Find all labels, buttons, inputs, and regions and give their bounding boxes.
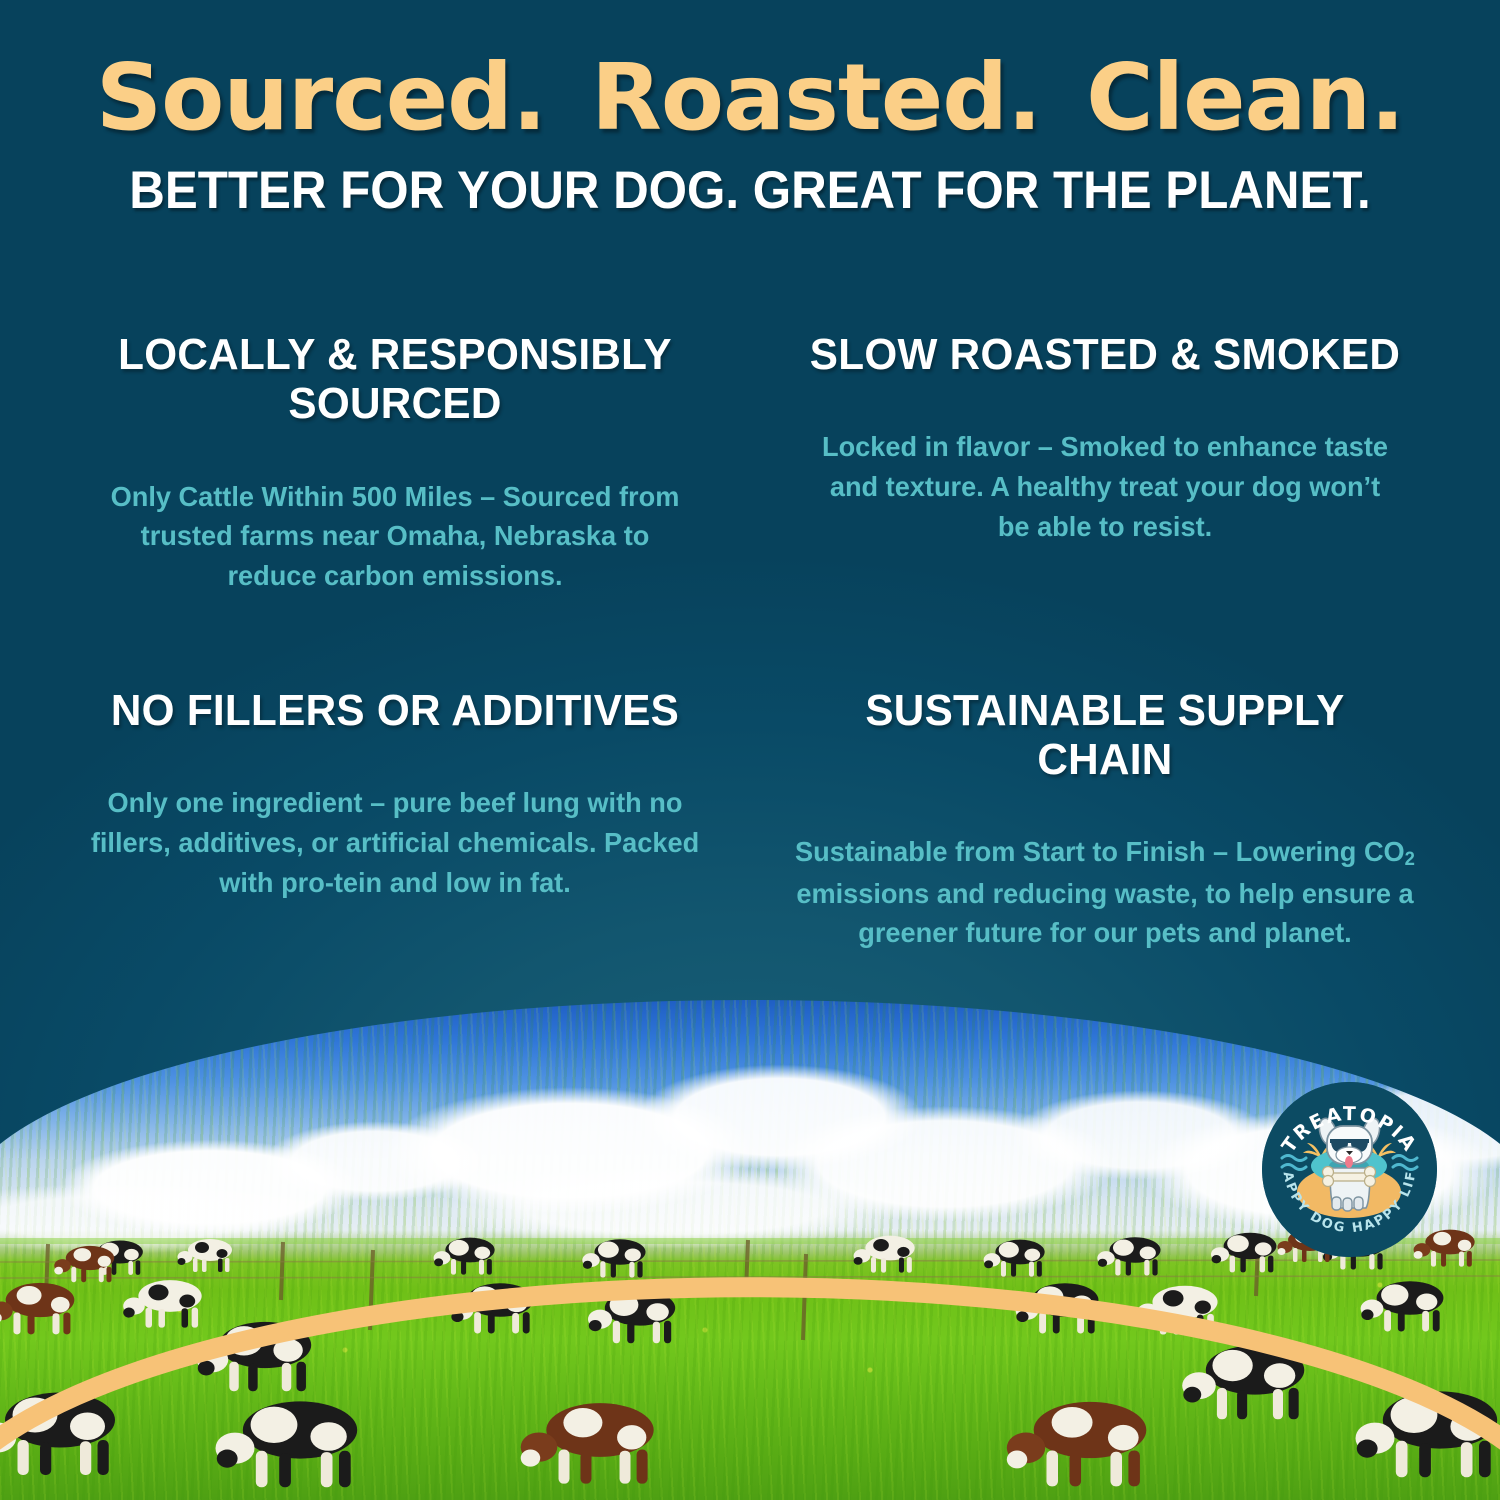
feature-body: Only Cattle Within 500 Miles – Sourced f… [80,429,711,596]
feature-body: Only one ingredient – pure beef lung wit… [80,735,711,902]
feature-card-slow-roasted: SLOW ROASTED & SMOKED Locked in flavor –… [780,330,1430,596]
feature-card-locally-sourced: LOCALLY & RESPONSIBLY SOURCED Only Cattl… [70,330,720,596]
feature-grid: LOCALLY & RESPONSIBLY SOURCED Only Cattl… [0,330,1500,953]
feature-body: Locked in flavor – Smoked to enhance tas… [790,379,1421,546]
co2-subscript: 2 [1405,850,1415,871]
feature-body-pre: Sustainable from Start to Finish – Lower… [795,836,1405,867]
brand-logo: TREATOPIA HAPPY DOG HAPPY LIFE [1262,1082,1437,1257]
feature-card-no-fillers: NO FILLERS OR ADDITIVES Only one ingredi… [70,596,720,953]
marketing-infographic: Sourced. Roasted. Clean. BETTER FOR YOUR… [0,0,1500,1500]
feature-title: SUSTAINABLE SUPPLY CHAIN [793,686,1417,785]
header: Sourced. Roasted. Clean. BETTER FOR YOUR… [0,0,1500,217]
logo-svg: TREATOPIA HAPPY DOG HAPPY LIFE [1262,1082,1437,1257]
feature-title: NO FILLERS OR ADDITIVES [83,686,707,735]
feature-body: Sustainable from Start to Finish – Lower… [790,784,1421,953]
page-title: Sourced. Roasted. Clean. [0,0,1500,144]
feature-body-post: emissions and reducing waste, to help en… [796,878,1413,949]
feature-card-sustainable-supply-chain: SUSTAINABLE SUPPLY CHAIN Sustainable fro… [780,596,1430,953]
page-subtitle: BETTER FOR YOUR DOG. GREAT FOR THE PLANE… [53,144,1448,217]
feature-title: SLOW ROASTED & SMOKED [793,330,1417,379]
feature-title: LOCALLY & RESPONSIBLY SOURCED [83,330,707,429]
